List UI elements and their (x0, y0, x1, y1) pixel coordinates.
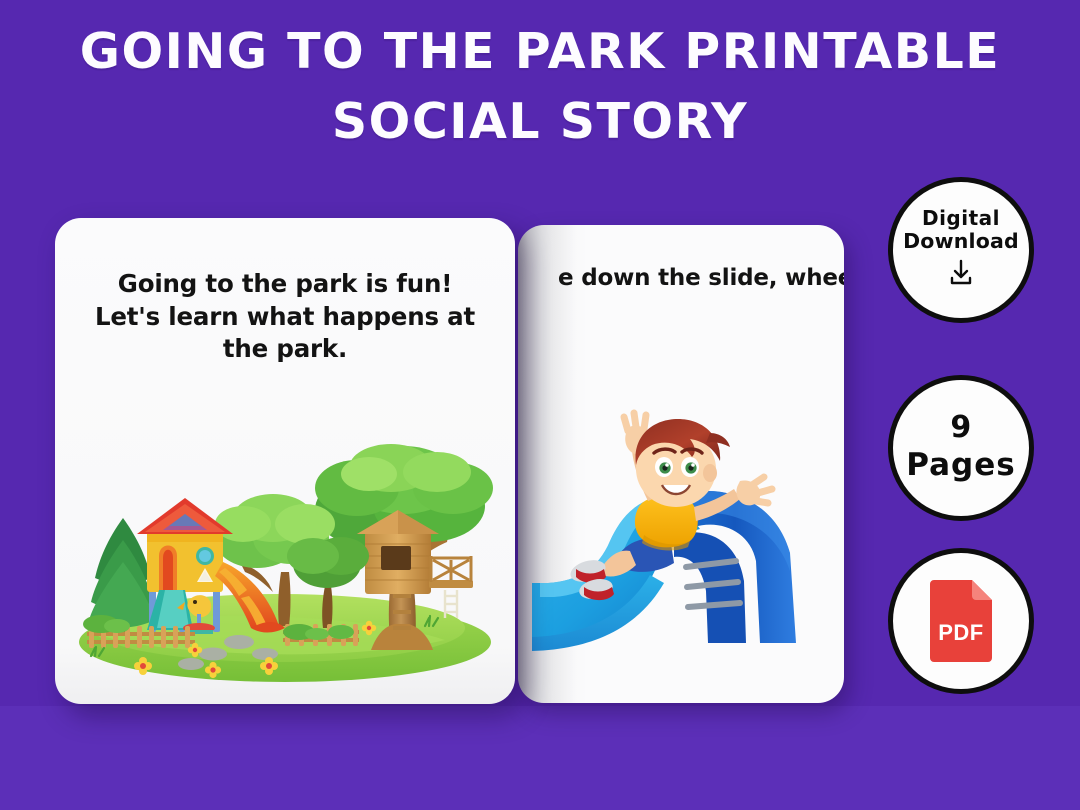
book-mockup: e down the slide, whee! (0, 0, 900, 810)
badge-digital-download-line-2: Download (903, 230, 1019, 254)
badge-digital-download[interactable]: Digital Download (888, 177, 1034, 323)
badge-page-count-number: 9 (950, 413, 971, 443)
book-page-left: Going to the park is fun! Let's learn wh… (55, 218, 515, 704)
download-icon (946, 258, 976, 293)
book-page-right: e down the slide, whee! (518, 225, 844, 703)
pdf-file-icon-label: PDF (924, 620, 998, 646)
book-page-right-text: e down the slide, whee! (540, 263, 830, 294)
book-page-left-text: Going to the park is fun! Let's learn wh… (91, 268, 479, 366)
pdf-file-icon: PDF (924, 576, 998, 666)
badge-page-count[interactable]: 9 Pages (888, 375, 1034, 521)
boy-on-slide-illustration (524, 385, 844, 685)
playground-park-illustration (73, 414, 497, 684)
badge-page-count-label: Pages (906, 448, 1015, 484)
badge-digital-download-line-1: Digital (922, 207, 1000, 230)
feature-badges: Digital Download 9 Pages PDF (880, 0, 1080, 810)
badge-file-format[interactable]: PDF (888, 548, 1034, 694)
